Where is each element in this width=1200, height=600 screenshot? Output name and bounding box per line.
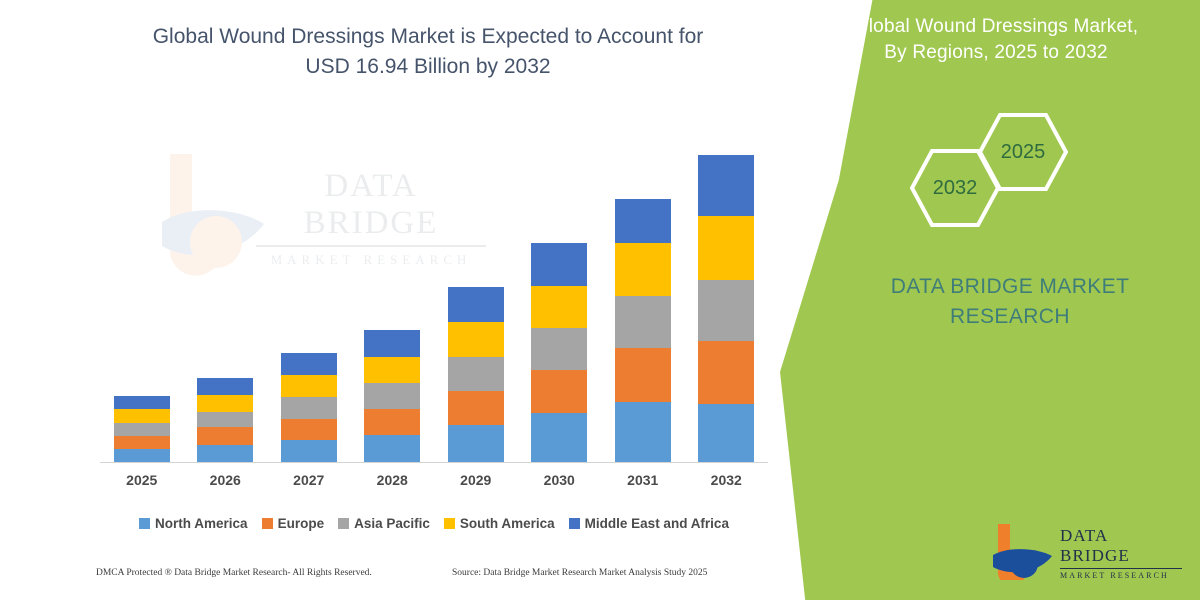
bar-segment — [364, 383, 420, 409]
bar-segment — [197, 427, 253, 445]
legend-swatch-icon — [338, 518, 349, 529]
bar-segment — [698, 404, 754, 462]
legend-swatch-icon — [569, 518, 580, 529]
legend-swatch-icon — [139, 518, 150, 529]
bar-segment — [698, 216, 754, 280]
bar-2028 — [364, 330, 420, 462]
legend-item[interactable]: North America — [139, 516, 248, 531]
hexagon-start-year-label: 2025 — [1001, 141, 1046, 164]
x-axis-label: 2029 — [434, 472, 518, 488]
footer-source: Source: Data Bridge Market Research Mark… — [452, 568, 707, 578]
logo-subtitle: MARKET RESEARCH — [1060, 571, 1182, 580]
bar-segment — [364, 435, 420, 462]
legend-item[interactable]: South America — [444, 516, 555, 531]
bar-segment — [281, 353, 337, 375]
bar-segment — [364, 330, 420, 357]
data-bridge-logo-mark-icon — [992, 522, 1054, 580]
legend-swatch-icon — [444, 518, 455, 529]
hexagon-group: 2032 2025 — [780, 110, 1200, 230]
chart-title-line2: USD 16.94 Billion by 2032 — [110, 52, 746, 82]
panel-brand-line2: RESEARCH — [840, 302, 1180, 332]
bar-2029 — [448, 287, 504, 462]
bar-segment — [197, 445, 253, 462]
logo-text: DATA BRIDGE MARKET RESEARCH — [1060, 526, 1182, 580]
logo-title: DATA BRIDGE — [1060, 526, 1182, 566]
stacked-bar-series — [100, 110, 768, 462]
bar-segment — [281, 397, 337, 419]
bar-segment — [364, 357, 420, 383]
bar-segment — [448, 322, 504, 357]
bar-segment — [531, 286, 587, 328]
bar-segment — [114, 409, 170, 423]
bar-segment — [114, 396, 170, 409]
bar-segment — [281, 440, 337, 462]
bar-segment — [448, 391, 504, 425]
bar-segment — [698, 341, 754, 404]
bar-2032 — [698, 155, 754, 462]
bar-2031 — [615, 199, 671, 462]
legend-label: Europe — [278, 516, 325, 531]
bar-segment — [531, 370, 587, 413]
bar-segment — [281, 419, 337, 440]
panel-title: Global Wound Dressings Market, By Region… — [810, 14, 1182, 66]
panel-brand-text: DATA BRIDGE MARKET RESEARCH — [840, 272, 1180, 332]
bar-segment — [531, 413, 587, 462]
x-axis-label: 2025 — [100, 472, 184, 488]
company-logo: DATA BRIDGE MARKET RESEARCH — [992, 520, 1182, 582]
x-axis-label: 2028 — [350, 472, 434, 488]
legend-label: South America — [460, 516, 555, 531]
panel-title-line1: Global Wound Dressings Market, — [854, 16, 1138, 37]
bar-segment — [114, 436, 170, 449]
x-axis-label: 2026 — [183, 472, 267, 488]
bar-segment — [615, 402, 671, 462]
bar-segment — [114, 423, 170, 436]
chart-title: Global Wound Dressings Market is Expecte… — [110, 22, 746, 82]
bar-segment — [448, 287, 504, 322]
legend-item[interactable]: Middle East and Africa — [569, 516, 729, 531]
bar-2030 — [531, 243, 587, 462]
infographic-canvas: DATA BRIDGE MARKET RESEARCH Global Wound… — [0, 0, 1200, 600]
hexagon-start-year: 2025 — [978, 112, 1068, 192]
bar-segment — [448, 425, 504, 462]
bar-segment — [531, 243, 587, 286]
bar-segment — [197, 378, 253, 395]
bar-2027 — [281, 353, 337, 462]
bar-segment — [281, 375, 337, 397]
bar-2025 — [114, 396, 170, 462]
x-axis-label: 2030 — [517, 472, 601, 488]
bar-segment — [615, 348, 671, 402]
legend-swatch-icon — [262, 518, 273, 529]
legend-label: Middle East and Africa — [585, 516, 729, 531]
bar-segment — [698, 155, 754, 216]
bar-segment — [615, 296, 671, 348]
panel-title-line2: By Regions, 2025 to 2032 — [810, 40, 1182, 66]
bar-segment — [197, 412, 253, 427]
bar-segment — [615, 243, 671, 296]
bar-segment — [615, 199, 671, 243]
bar-segment — [114, 449, 170, 462]
legend-item[interactable]: Europe — [262, 516, 325, 531]
x-axis-line — [100, 462, 768, 463]
x-axis-label: 2027 — [267, 472, 351, 488]
x-axis-label: 2031 — [601, 472, 685, 488]
chart-legend: North AmericaEuropeAsia PacificSouth Ame… — [100, 512, 768, 534]
bar-segment — [531, 328, 587, 370]
x-axis-label: 2032 — [684, 472, 768, 488]
chart-title-line1: Global Wound Dressings Market is Expecte… — [153, 25, 704, 48]
bar-2026 — [197, 378, 253, 462]
right-green-panel: Global Wound Dressings Market, By Region… — [780, 0, 1200, 600]
footer-copyright: DMCA Protected ® Data Bridge Market Rese… — [96, 568, 372, 578]
logo-rule — [1060, 568, 1182, 569]
legend-label: North America — [155, 516, 248, 531]
bar-segment — [448, 357, 504, 391]
x-axis-labels: 20252026202720282029203020312032 — [100, 472, 768, 496]
footer: DMCA Protected ® Data Bridge Market Rese… — [0, 568, 800, 590]
legend-item[interactable]: Asia Pacific — [338, 516, 430, 531]
legend-label: Asia Pacific — [354, 516, 430, 531]
bar-segment — [364, 409, 420, 435]
panel-brand-line1: DATA BRIDGE MARKET — [891, 275, 1130, 298]
hexagon-end-year-label: 2032 — [933, 177, 978, 200]
bar-segment — [698, 280, 754, 341]
bar-segment — [197, 395, 253, 412]
